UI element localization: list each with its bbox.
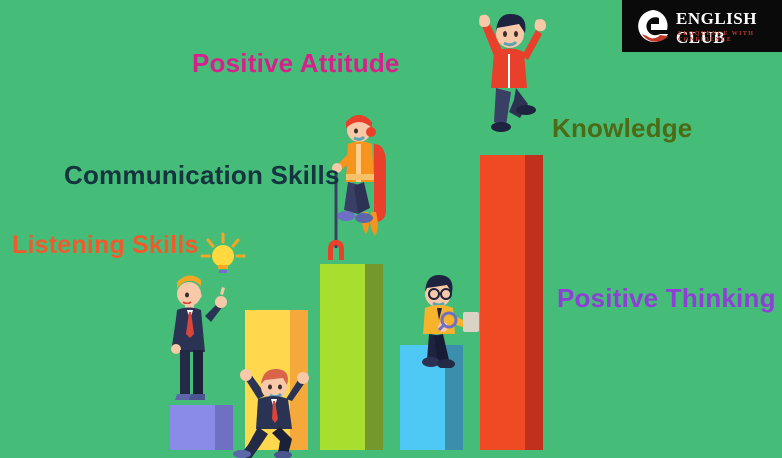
bar-side [365,264,383,450]
english-club-logo[interactable]: ENGLISH CLUB ELOQUENCE WITH CONFIDENCE [622,0,782,52]
businessman-with-lightbulb [163,272,235,408]
label-knowledge: Knowledge [552,113,692,144]
logo-e-mark-icon [634,6,674,46]
logo-tagline: ELOQUENCE WITH CONFIDENCE [678,31,782,43]
celebrating-jumper [468,4,556,150]
bar-knowledge [480,155,543,450]
infographic-canvas: Listening Skills Communication Skills Po… [0,0,782,458]
label-positive-attitude: Positive Attitude [192,48,400,79]
label-positive-thinking: Positive Thinking [557,283,776,314]
bar-listening-skills [170,405,233,450]
logo-word-english: ENGLISH [676,9,757,28]
bar-side [525,155,543,450]
man-lifting-bar [228,355,328,458]
bar-positive-attitude [320,264,383,450]
label-listening-skills: Listening Skills [12,231,199,260]
label-communication-skills: Communication Skills [64,160,340,191]
man-reading-with-magnifier [413,272,489,368]
